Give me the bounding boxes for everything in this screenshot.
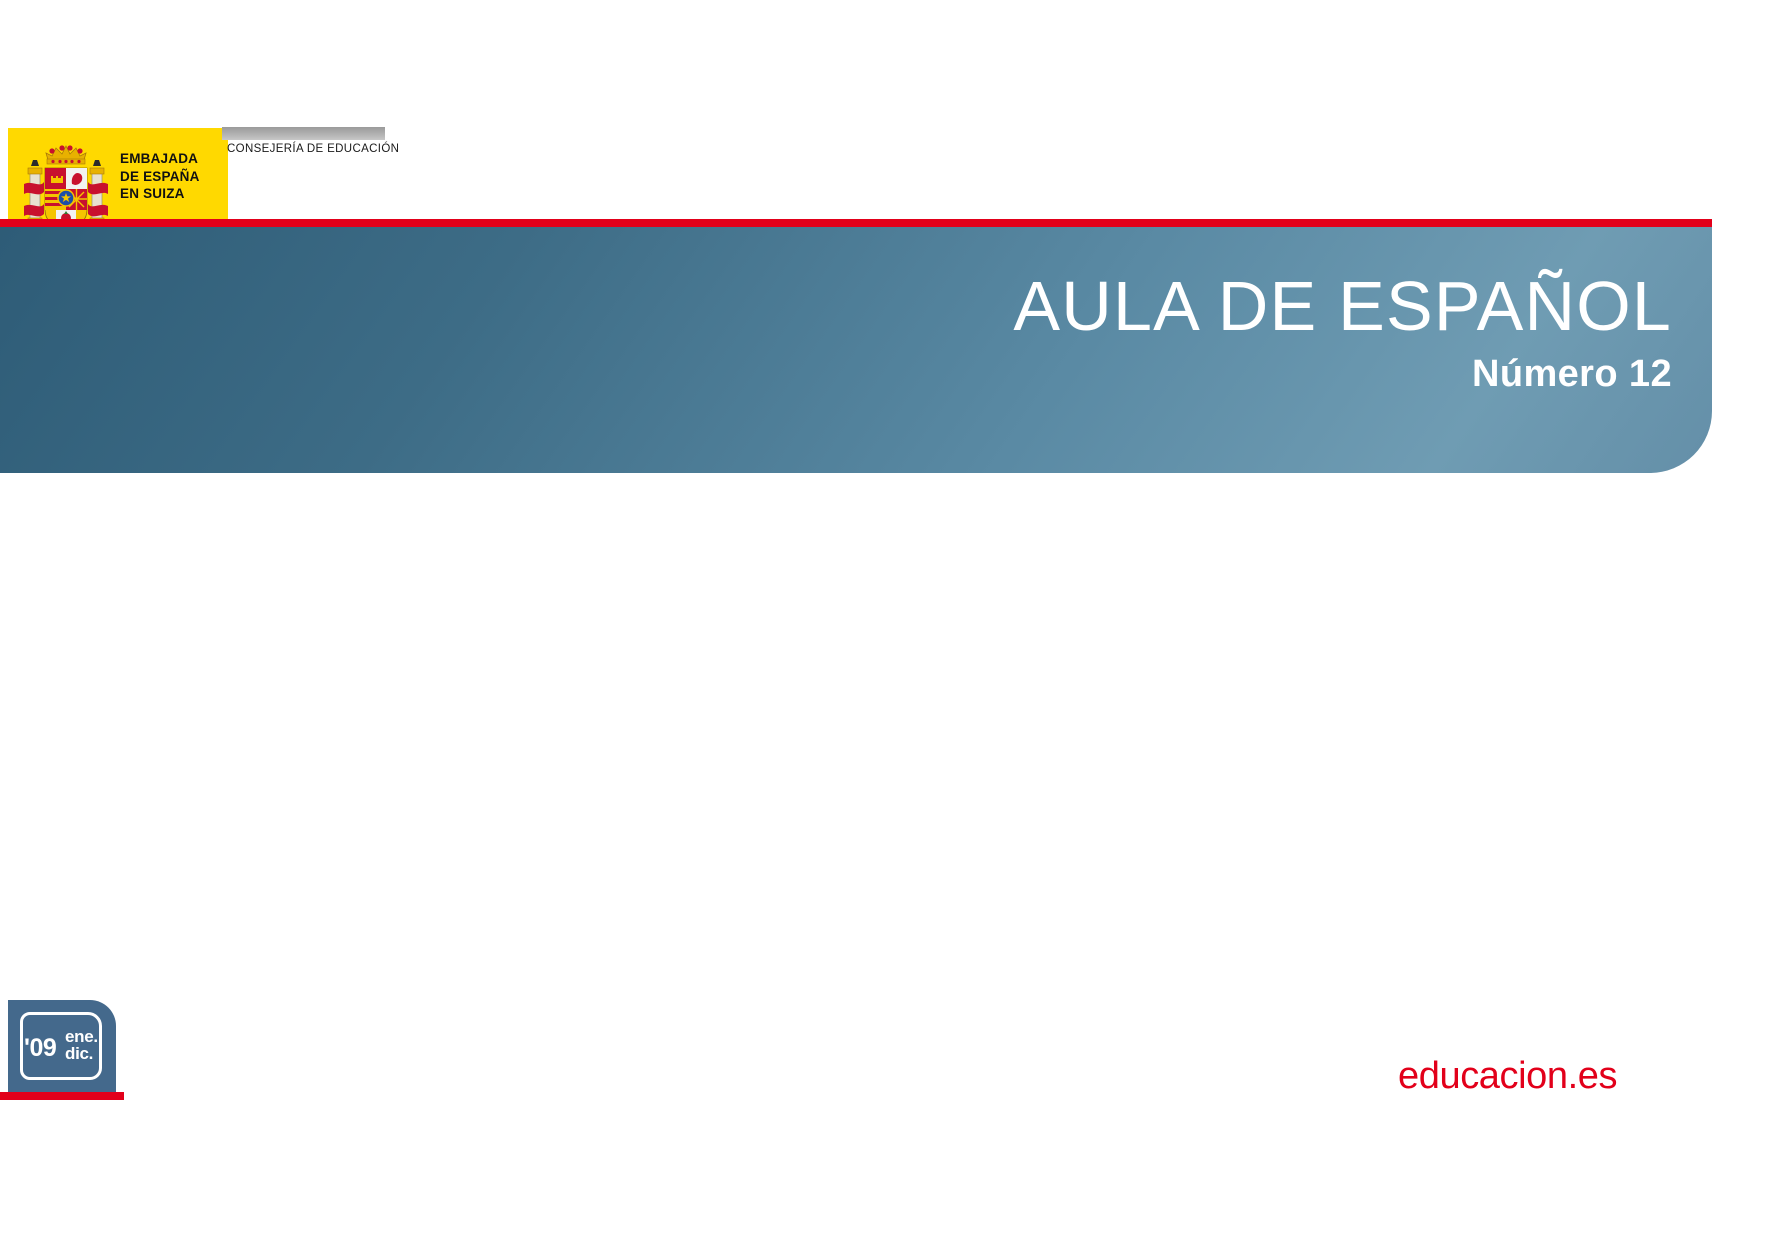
date-badge-year: '09 [24,1036,56,1061]
date-badge: '09 ene. dic. [8,1000,116,1092]
embassy-line-2: DE ESPAÑA [120,168,200,186]
header-red-divider [0,219,1712,227]
page-title: AULA DE ESPAÑOL [1013,271,1672,341]
embassy-line-1: EMBAJADA [120,150,200,168]
educacion-es-logo: educacion.es [1398,1055,1617,1098]
footer-red-divider [0,1092,124,1100]
embassy-title: EMBAJADA DE ESPAÑA EN SUIZA [120,150,200,203]
embassy-line-3: EN SUIZA [120,185,200,203]
title-banner: AULA DE ESPAÑOL Número 12 [0,227,1712,473]
consejeria-gray-bar [222,127,385,140]
title-banner-text-group: AULA DE ESPAÑOL Número 12 [1013,271,1672,393]
page-subtitle: Número 12 [1013,355,1672,393]
slide-page: EMBAJADA DE ESPAÑA EN SUIZA CONSEJERÍA D… [0,0,1766,1241]
date-badge-month-to: dic. [65,1046,98,1063]
consejeria-label: CONSEJERÍA DE EDUCACIÓN [227,143,399,155]
date-badge-months: ene. dic. [65,1029,98,1062]
